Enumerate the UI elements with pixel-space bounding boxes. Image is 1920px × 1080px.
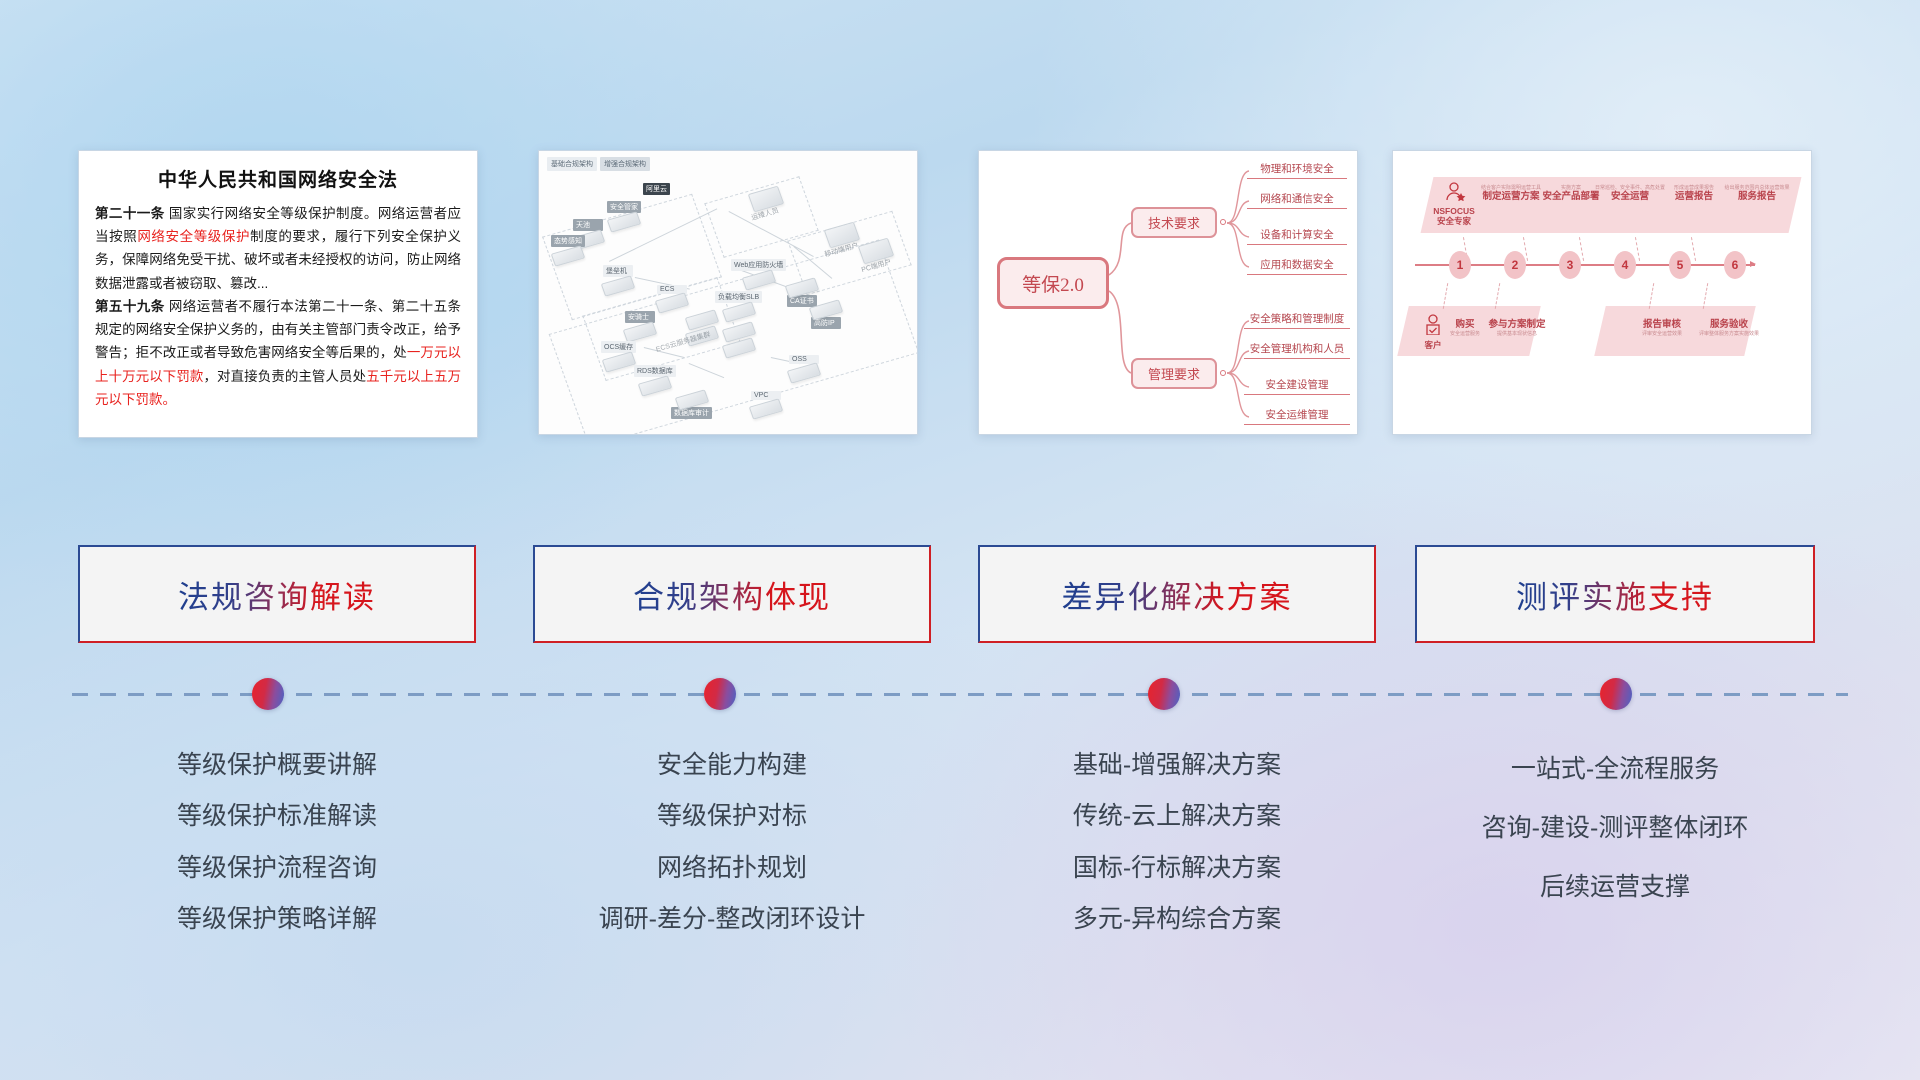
timeline-connector-4 (1579, 237, 1584, 261)
law-article-number-2: 第五十九条 (95, 299, 165, 314)
architecture-node-pc-user: PC端用户 (861, 239, 892, 271)
category-label-differentiated-solution: 差异化解决方案 (1062, 572, 1293, 617)
timeline-bottom-step-4-title: 服务验收 (1693, 319, 1765, 331)
list-item: 等级保护对标 (533, 791, 931, 842)
card-mind-map: 等保2.0 技术要求 物理和环境安全 网络和通信安全 设备和计算安全 应用和数据… (978, 150, 1358, 435)
category-box-compliance-architecture[interactable]: 合规架构体现 (533, 545, 931, 643)
expert-label-line1: NSFOCUS (1431, 206, 1477, 216)
architecture-node-anti-ddos: 高防IP (811, 301, 841, 329)
law-highlight-1: 网络安全等级保护 (137, 229, 250, 244)
architecture-node-rds-label: RDS数据库 (634, 365, 676, 377)
list-item: 安全能力构建 (533, 740, 931, 791)
timeline-step-number-2: 2 (1504, 251, 1526, 279)
law-paragraph-1: 第二十一条 国家实行网络安全等级保护制度。网络运营者应当按照网络安全等级保护制度… (95, 202, 461, 295)
detail-list-differentiated-solution: 基础-增强解决方案 传统-云上解决方案 国标-行标解决方案 多元-异构综合方案 (978, 740, 1376, 945)
timeline-top-step-5: 给出服务范围内总体运营效果 服务报告 (1711, 185, 1803, 203)
architecture-node-slb: 负载均衡SLB (715, 291, 762, 319)
detail-list-regulation-consulting: 等级保护概要讲解 等级保护标准解读 等级保护流程咨询 等级保护策略详解 (78, 740, 476, 945)
timeline-bottom-step-3-title: 报告审核 (1631, 319, 1693, 331)
mind-map-collapse-icon-technical[interactable] (1220, 219, 1226, 225)
timeline-bottom-step-1-title: 购买 (1443, 319, 1487, 331)
list-item: 国标-行标解决方案 (978, 843, 1376, 894)
mind-map-leaf-operations: 安全运维管理 (1244, 407, 1350, 425)
timeline-bottom-step-2-title: 参与方案制定 (1485, 319, 1549, 331)
list-item: 多元-异构综合方案 (978, 894, 1376, 945)
list-item: 等级保护标准解读 (78, 791, 476, 842)
list-item: 等级保护流程咨询 (78, 843, 476, 894)
category-box-assessment-support[interactable]: 测评实施支持 (1415, 545, 1815, 643)
customer-label: 客户 (1413, 340, 1453, 350)
timeline-bottom-step-4-sub: 评审整体服务方案实施效果 (1693, 331, 1765, 337)
architecture-node-vpc: VPC (751, 391, 781, 416)
timeline-bottom-step-1-sub: 安全运营服务 (1443, 331, 1487, 337)
law-title: 中华人民共和国网络安全法 (95, 165, 461, 192)
mind-map-leaf-org-personnel: 安全管理机构和人员 (1244, 341, 1350, 359)
architecture-node-ops-user: 运维人员 (751, 187, 781, 219)
detail-list-compliance-architecture: 安全能力构建 等级保护对标 网络拓扑规划 调研-差分-整改闭环设计 (533, 740, 931, 945)
list-item: 调研-差分-整改闭环设计 (533, 894, 931, 945)
card-architecture-diagram: 基础合规架构 增强合规架构 阿 (538, 150, 918, 435)
timeline-dashed-line (72, 693, 1848, 696)
architecture-node-security-butler: 安全管家 (607, 201, 641, 229)
architecture-node-rds: RDS数据库 (634, 365, 676, 393)
timeline-marker-4[interactable] (1600, 678, 1632, 710)
architecture-node-bastion-host: 堡垒机 (603, 265, 633, 293)
card-service-timeline: NSFOCUS 安全专家 结合客户实际需明运营工具 制定运营方案 实施方案 安全… (1392, 150, 1812, 435)
timeline-connector-5 (1635, 237, 1640, 261)
category-label-regulation-consulting: 法规咨询解读 (178, 572, 376, 617)
list-item: 传统-云上解决方案 (978, 791, 1376, 842)
timeline-marker-3[interactable] (1148, 678, 1180, 710)
timeline-step-number-5: 5 (1669, 251, 1691, 279)
service-timeline-canvas: NSFOCUS 安全专家 结合客户实际需明运营工具 制定运营方案 实施方案 安全… (1393, 151, 1811, 434)
mind-map-branch-technical: 技术要求 (1131, 207, 1217, 238)
list-item: 一站式-全流程服务 (1415, 740, 1815, 799)
architecture-node-ecs-cluster-2 (724, 323, 754, 355)
list-item: 网络拓扑规划 (533, 843, 931, 894)
detail-list-row: 等级保护概要讲解 等级保护标准解读 等级保护流程咨询 等级保护策略详解 安全能力… (0, 740, 1920, 960)
image-card-row: 中华人民共和国网络安全法 第二十一条 国家实行网络安全等级保护制度。网络运营者应… (0, 150, 1920, 440)
architecture-node-cloud-label: 阿里云 (643, 183, 670, 195)
mind-map-collapse-icon-management[interactable] (1220, 370, 1226, 376)
architecture-node-db-audit: 数据库审计 (671, 391, 712, 419)
architecture-node-vpc-chip (749, 398, 784, 419)
law-document: 中华人民共和国网络安全法 第二十一条 国家实行网络安全等级保护制度。网络运营者应… (79, 151, 477, 419)
category-label-compliance-architecture: 合规架构体现 (633, 572, 831, 617)
list-item: 等级保护策略详解 (78, 894, 476, 945)
expert-person-icon (1431, 181, 1477, 201)
architecture-canvas: 基础合规架构 增强合规架构 阿 (539, 151, 917, 434)
architecture-node-db-audit-label: 数据库审计 (671, 407, 712, 419)
list-item: 等级保护概要讲解 (78, 740, 476, 791)
timeline-bottom-step-4: 服务验收 评审整体服务方案实施效果 (1693, 319, 1765, 337)
timeline-step-number-3: 3 (1559, 251, 1581, 279)
tab-basic-architecture[interactable]: 基础合规架构 (547, 157, 597, 171)
timeline-step-number-6: 6 (1724, 251, 1746, 279)
architecture-node-aegis: 安骑士 (625, 311, 655, 339)
timeline-bottom-step-3: 报告审核 评审安全运营效果 (1631, 319, 1693, 337)
mind-map-branch-management: 管理要求 (1131, 358, 1217, 389)
expert-label-line2: 安全专家 (1431, 216, 1477, 226)
law-paragraph-2: 第五十九条 网络运营者不履行本法第二十一条、第二十五条规定的网络安全保护义务的，… (95, 295, 461, 411)
mind-map-leaf-physical-env: 物理和环境安全 (1247, 161, 1347, 179)
architecture-node-ecs: ECS (657, 285, 687, 310)
list-item: 咨询-建设-测评整体闭环 (1415, 799, 1815, 858)
mind-map-root: 等保2.0 (997, 257, 1109, 309)
tab-enhanced-architecture[interactable]: 增强合规架构 (600, 157, 650, 171)
timeline-marker-1[interactable] (252, 678, 284, 710)
timeline-marker-2[interactable] (704, 678, 736, 710)
mind-map-leaf-app-data: 应用和数据安全 (1247, 257, 1347, 275)
mind-map-leaf-construction: 安全建设管理 (1244, 377, 1350, 395)
architecture-node-waf: Web应用防火墙 (731, 259, 786, 287)
category-box-regulation-consulting[interactable]: 法规咨询解读 (78, 545, 476, 643)
timeline-step-number-4: 4 (1614, 251, 1636, 279)
architecture-tabs: 基础合规架构 增强合规架构 (547, 157, 650, 171)
timeline-bottom-step-2-sub: 提供基本现状信息 (1485, 331, 1549, 337)
timeline-strip (0, 675, 1920, 715)
slide-canvas: 中华人民共和国网络安全法 第二十一条 国家实行网络安全等级保护制度。网络运营者应… (0, 0, 1920, 1080)
law-text-2b: ，对直接负责的主管人员处 (203, 369, 366, 384)
mind-map-leaf-network-comm: 网络和通信安全 (1247, 191, 1347, 209)
category-label-assessment-support: 测评实施支持 (1516, 572, 1714, 617)
architecture-node-cloud: 阿里云 (643, 183, 670, 195)
timeline-top-step-5-title: 服务报告 (1711, 191, 1803, 203)
architecture-node-situational-awareness: 态势感知 (551, 235, 585, 263)
architecture-node-slb-label: 负载均衡SLB (715, 291, 762, 303)
category-label-row: 法规咨询解读 合规架构体现 差异化解决方案 测评实施支持 (0, 545, 1920, 645)
timeline-bottom-step-1: 购买 安全运营服务 (1443, 319, 1487, 337)
law-article-number-1: 第二十一条 (95, 206, 165, 221)
category-box-differentiated-solution[interactable]: 差异化解决方案 (978, 545, 1376, 643)
timeline-connector-6 (1691, 237, 1696, 261)
timeline-expert-block: NSFOCUS 安全专家 (1431, 181, 1477, 227)
mind-map-leaf-policy-system: 安全策略和管理制度 (1244, 311, 1350, 329)
timeline-bottom-step-3-sub: 评审安全运营效果 (1631, 331, 1693, 337)
architecture-node-ocs-cache: OCS缓存 (601, 341, 636, 369)
mind-map-leaf-device-compute: 设备和计算安全 (1247, 227, 1347, 245)
timeline-bottom-step-2: 参与方案制定 提供基本现状信息 (1485, 319, 1549, 337)
architecture-node-oss: OSS (789, 355, 819, 380)
architecture-node-waf-label: Web应用防火墙 (731, 259, 786, 271)
timeline-step-number-1: 1 (1449, 251, 1471, 279)
card-law-text: 中华人民共和国网络安全法 第二十一条 国家实行网络安全等级保护制度。网络运营者应… (78, 150, 478, 438)
architecture-node-mobile-user: 移动端用户 (824, 223, 859, 255)
detail-list-assessment-support: 一站式-全流程服务 咨询-建设-测评整体闭环 后续运营支撑 (1415, 740, 1815, 916)
list-item: 后续运营支撑 (1415, 858, 1815, 917)
mind-map-canvas: 等保2.0 技术要求 物理和环境安全 网络和通信安全 设备和计算安全 应用和数据… (979, 151, 1357, 434)
list-item: 基础-增强解决方案 (978, 740, 1376, 791)
